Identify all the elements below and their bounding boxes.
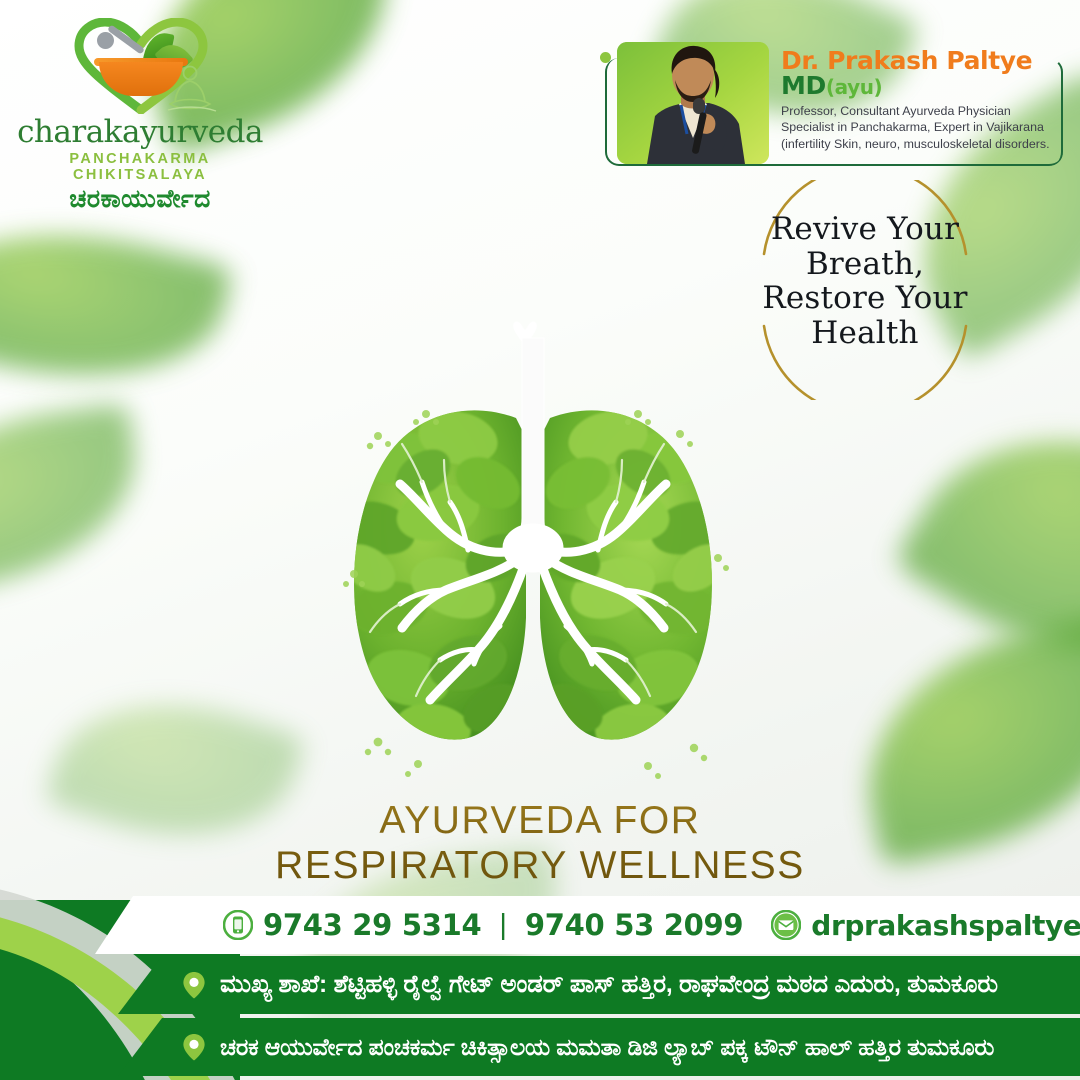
email-address[interactable]: drprakashspaltye@gmail.com (811, 909, 1080, 942)
background-leaf-icon (0, 196, 234, 414)
mobile-phone-icon (223, 910, 253, 940)
frame-dot-icon (600, 52, 611, 63)
doctor-description-line-2: Specialist in Panchakarma, Expert in Vaj… (781, 119, 1073, 135)
phone-email-bar: 9743 29 5314 | 9740 53 2099 drprakashspa… (95, 896, 1080, 954)
logo-subtitle: PANCHAKARMA CHIKITSALAYA (10, 151, 270, 183)
address-bar-2: ಚರಕ ಆಯುರ್ವೇದ ಪಂಚಕರ್ಮ ಚಿಕಿತ್ಸಾಲಯ ಮಮತಾ ಡಿಜ… (118, 1018, 1080, 1076)
address-text-1: ಮುಖ್ಯ ಶಾಖೆ: ಶೆಟ್ಟಿಹಳ್ಳಿ ರೈಲ್ವೆ ಗೇಟ್ ಅಂಡರ… (220, 971, 998, 999)
tagline-line-1: AYURVEDA FOR (0, 798, 1080, 843)
doctor-profile-card: Dr. Prakash Paltye MD(ayu) Professor, Co… (605, 42, 1073, 164)
logo-brand-name: charakayurveda (10, 114, 270, 150)
location-pin-icon (178, 1031, 210, 1063)
contact-footer: 9743 29 5314 | 9740 53 2099 drprakashspa… (0, 880, 1080, 1080)
doctor-description-line-3: (infertility Skin, neuro, musculoskeleta… (781, 136, 1073, 152)
logo-mark-icon (53, 18, 228, 118)
brand-logo[interactable]: charakayurveda PANCHAKARMA CHIKITSALAYA … (10, 18, 270, 214)
headline-line-4: Health (736, 316, 994, 351)
hero-lungs-image (318, 318, 748, 788)
background-leaf-icon (892, 368, 1080, 722)
green-leaf-lungs-graphic (318, 318, 748, 788)
doctor-degree: MD (781, 71, 826, 100)
headline-block: Revive Your Breath, Restore Your Health (740, 180, 990, 400)
address-bar-1: ಮುಖ್ಯ ಶಾಖೆ: ಶೆಟ್ಟಿಹಳ್ಳಿ ರೈಲ್ವೆ ಗೇಟ್ ಅಂಡರ… (118, 956, 1080, 1014)
doctor-description: Professor, Consultant Ayurveda Physician… (781, 103, 1073, 152)
background-leaf-icon (0, 403, 150, 598)
doctor-text-block: Dr. Prakash Paltye MD(ayu) Professor, Co… (781, 48, 1073, 152)
phone-separator: | (499, 909, 507, 942)
doctor-degree-suffix: (ayu) (826, 75, 882, 99)
headline-text: Revive Your Breath, Restore Your Health (736, 212, 994, 351)
logo-kannada-name: ಚರಕಾಯುರ್ವೇದ (10, 185, 270, 214)
address-text-2: ಚರಕ ಆಯುರ್ವೇದ ಪಂಚಕರ್ಮ ಚಿಕಿತ್ಸಾಲಯ ಮಮತಾ ಡಿಜ… (220, 1034, 994, 1061)
main-tagline: AYURVEDA FOR RESPIRATORY WELLNESS (0, 798, 1080, 888)
phone-number-2[interactable]: 9740 53 2099 (525, 908, 743, 942)
location-pin-icon (178, 969, 210, 1001)
doctor-description-line-1: Professor, Consultant Ayurveda Physician (781, 103, 1073, 119)
phone-number-1[interactable]: 9743 29 5314 (263, 908, 481, 942)
headline-line-2: Breath, (736, 247, 994, 282)
headline-line-1: Revive Your (736, 212, 994, 247)
poster-canvas: charakayurveda PANCHAKARMA CHIKITSALAYA … (0, 0, 1080, 1080)
headline-line-3: Restore Your (736, 281, 994, 316)
pestle-ball-icon (97, 32, 114, 49)
doctor-portrait-graphic (617, 42, 769, 164)
doctor-photo (617, 42, 769, 164)
meditating-yogi-icon (166, 64, 222, 116)
doctor-name: Dr. Prakash Paltye MD(ayu) (781, 48, 1073, 98)
envelope-icon (771, 910, 801, 940)
